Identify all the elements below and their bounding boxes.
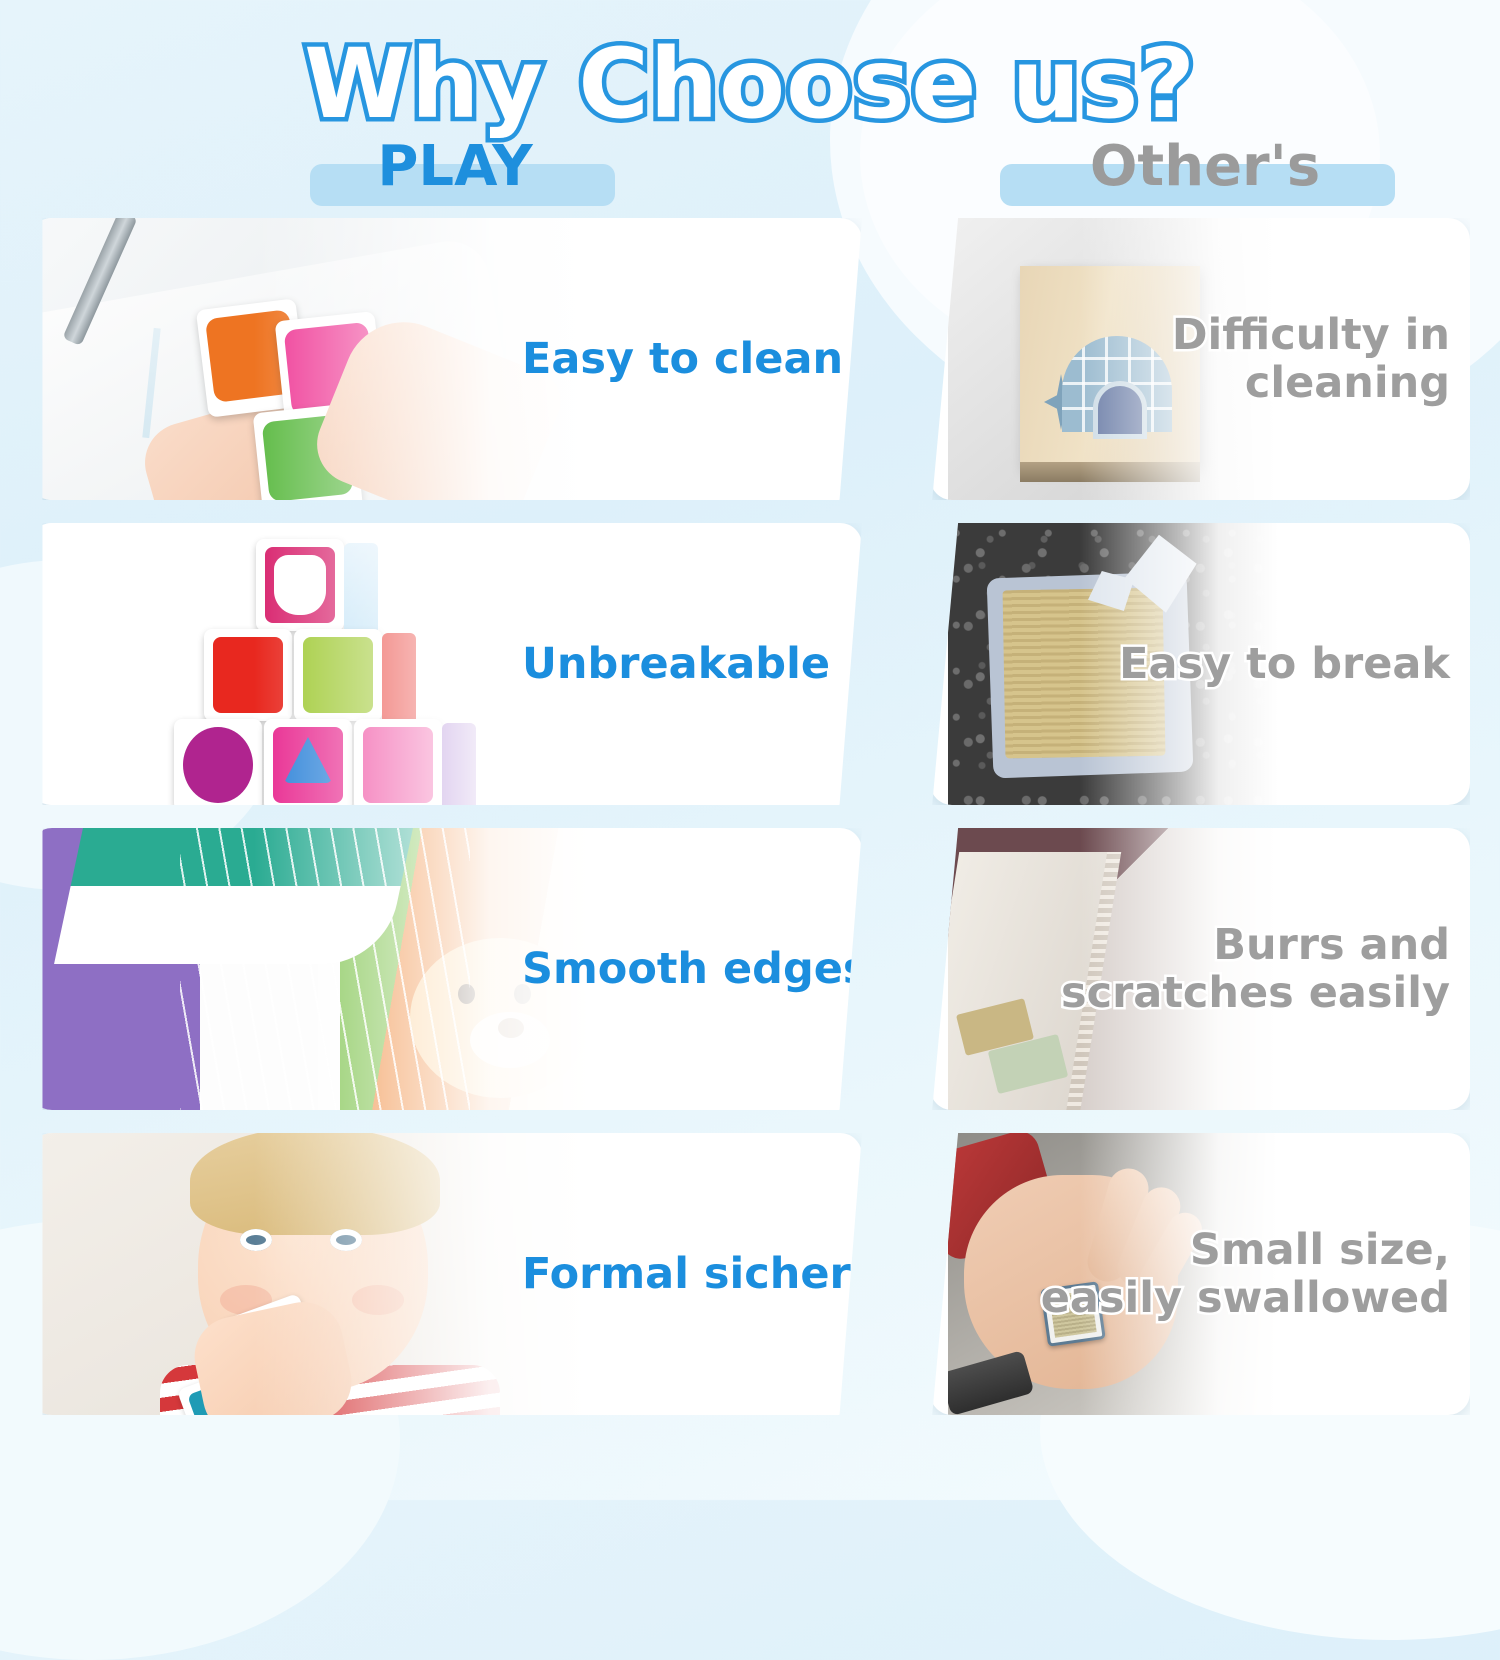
photo-block-pyramid <box>30 523 590 805</box>
feature-caption: Easy to clean <box>522 335 843 383</box>
comparison-row: Smooth edges Burrs and scratches easily <box>30 828 1470 1118</box>
photo-baby-with-blocks <box>30 1133 590 1415</box>
comparison-row: Easy to clean <box>30 218 1470 508</box>
caption-line-1: Easy to break <box>1119 640 1450 688</box>
feature-card-negative: Easy to break <box>930 523 1470 805</box>
photo-hands-washing-blocks <box>30 218 590 500</box>
feature-card-positive: Formal sicher <box>30 1133 862 1415</box>
caption-line-1: Small size, <box>1041 1226 1450 1274</box>
caption-line-2: scratches easily <box>1061 969 1450 1017</box>
feature-card-positive: Easy to clean <box>30 218 862 500</box>
comparison-row: Formal sicher <box>30 1133 1470 1423</box>
photo-lion-cube-closeup <box>30 828 590 1110</box>
feature-card-negative: Burrs and scratches easily <box>930 828 1470 1110</box>
column-headers: PLAY Other's <box>0 136 1500 218</box>
caption-line-2: cleaning <box>1172 359 1450 407</box>
caption-line-1: Difficulty in <box>1172 311 1450 359</box>
feature-caption: Unbreakable <box>522 640 830 688</box>
feature-caption: Formal sicher <box>522 1250 851 1298</box>
feature-card-negative: Small size, easily swallowed <box>930 1133 1470 1415</box>
caption-line-1: Burrs and <box>1061 921 1450 969</box>
caption-line-2: easily swallowed <box>1041 1274 1450 1322</box>
comparison-row: Unbreakable Easy to break <box>30 523 1470 813</box>
column-label-play: PLAY <box>377 134 532 199</box>
column-label-others: Other's <box>1090 134 1320 199</box>
feature-card-positive: Unbreakable <box>30 523 862 805</box>
feature-card-positive: Smooth edges <box>30 828 862 1110</box>
feature-caption: Difficulty in cleaning <box>1172 311 1450 407</box>
feature-caption: Smooth edges <box>522 945 862 993</box>
feature-caption: Burrs and scratches easily <box>1061 921 1450 1017</box>
comparison-rows: Easy to clean <box>0 218 1500 1423</box>
feature-caption: Small size, easily swallowed <box>1041 1226 1450 1322</box>
page-title: Why Choose us? <box>0 0 1500 140</box>
feature-caption: Easy to break <box>1119 640 1450 688</box>
feature-card-negative: Difficulty in cleaning <box>930 218 1470 500</box>
